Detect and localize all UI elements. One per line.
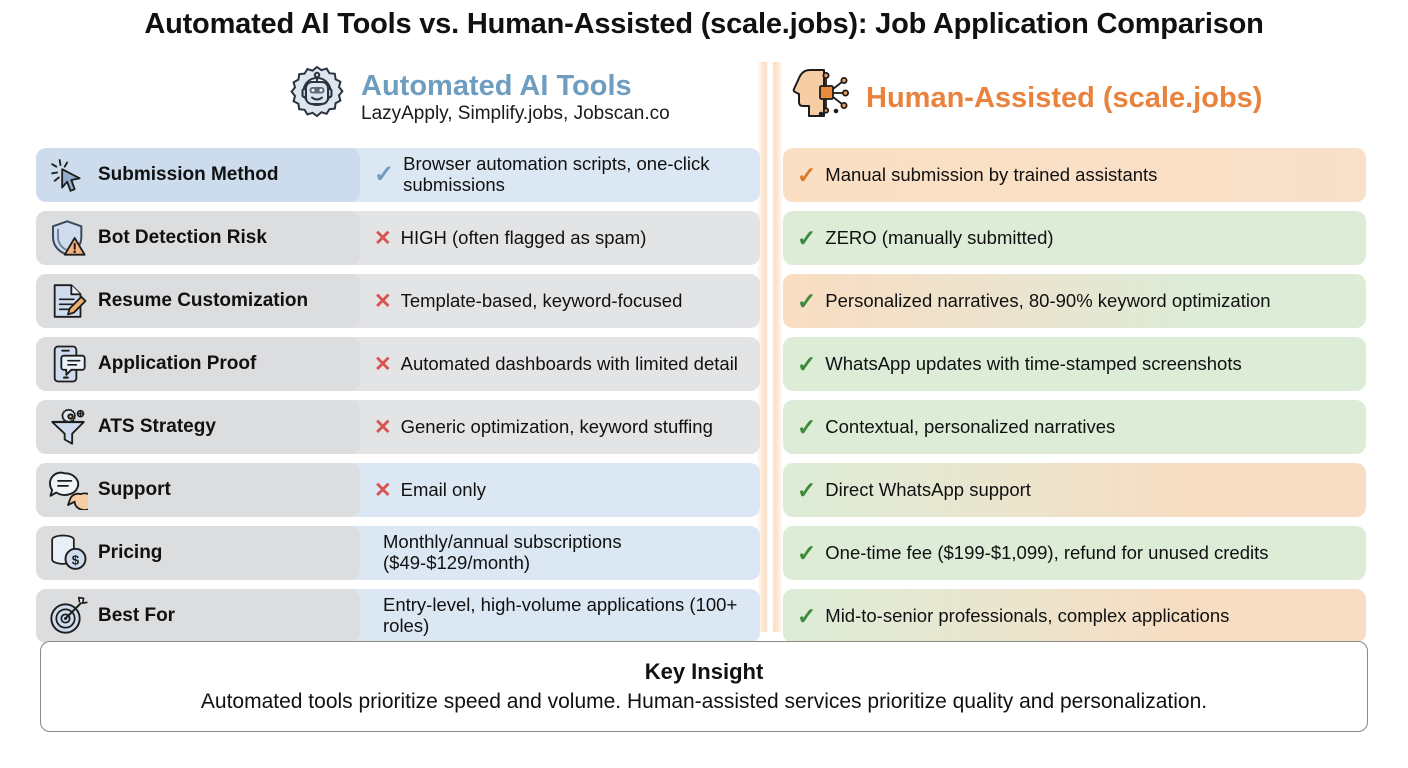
right-value-text: Mid-to-senior professionals, complex app… [825,606,1229,627]
key-insight-body: Automated tools prioritize speed and vol… [201,690,1207,714]
left-column-cell: Resume Customization ✕ Template-based, k… [36,274,760,328]
right-value-text: ZERO (manually submitted) [825,228,1053,249]
row-label-cell: Submission Method [36,148,360,202]
right-column-cell: ✓ Manual submission by trained assistant… [783,148,1366,202]
table-row: ATS Strategy ✕ Generic optimization, key… [0,400,1408,454]
right-value-text: Manual submission by trained assistants [825,165,1157,186]
right-column-cell: ✓ One-time fee ($199-$1,099), refund for… [783,526,1366,580]
left-column-cell: Bot Detection Risk ✕ HIGH (often flagged… [36,211,760,265]
left-value-text: Entry-level, high-volume applications (1… [383,595,760,636]
svg-text:$: $ [72,553,80,568]
table-row: Application Proof ✕ Automated dashboards… [0,337,1408,391]
phone-chat-icon [48,344,88,384]
column-right-title: Human-Assisted (scale.jobs) [866,83,1262,114]
table-row: $ Pricing Monthly/annual subscriptions (… [0,526,1408,580]
row-label: Resume Customization [98,291,308,312]
left-value-text: Monthly/annual subscriptions ($49-$129/m… [383,532,760,573]
column-left-title: Automated AI Tools [361,71,670,102]
table-row: Resume Customization ✕ Template-based, k… [0,274,1408,328]
left-value-cell: ✕ Email only [366,463,760,517]
right-mark-check-icon: ✓ [797,353,816,376]
left-value-text: Automated dashboards with limited detail [401,354,738,375]
right-mark-check-icon: ✓ [797,164,816,187]
table-row: Submission Method ✓ Browser automation s… [0,148,1408,202]
left-value-cell: Entry-level, high-volume applications (1… [366,589,760,643]
funnel-gear-icon [48,407,88,447]
left-column-cell: Submission Method ✓ Browser automation s… [36,148,760,202]
right-mark-check-icon: ✓ [797,227,816,250]
row-label: Support [98,480,171,501]
chat-bubbles-icon [48,470,88,510]
row-label-cell: $ Pricing [36,526,360,580]
right-value-text: WhatsApp updates with time-stamped scree… [825,354,1241,375]
left-column-cell: Best For Entry-level, high-volume applic… [36,589,760,643]
left-value-cell: ✕ Template-based, keyword-focused [366,274,760,328]
row-label: Submission Method [98,165,279,186]
right-value-text: Direct WhatsApp support [825,480,1031,501]
left-mark-cross-icon: ✕ [374,291,392,312]
right-mark-check-icon: ✓ [797,605,816,628]
right-mark-check-icon: ✓ [797,479,816,502]
table-row: Best For Entry-level, high-volume applic… [0,589,1408,643]
human-head-circuit-icon [790,64,854,133]
row-label: ATS Strategy [98,417,216,438]
row-label-cell: Support [36,463,360,517]
column-header-left: Automated AI Tools LazyApply, Simplify.j… [285,62,765,134]
row-label: Application Proof [98,354,256,375]
robot-gear-icon [285,64,349,133]
left-value-text: Generic optimization, keyword stuffing [401,417,713,438]
right-column-cell: ✓ Direct WhatsApp support [783,463,1366,517]
left-column-cell: Support ✕ Email only [36,463,760,517]
right-mark-check-icon: ✓ [797,290,816,313]
left-mark-cross-icon: ✕ [374,417,392,438]
row-label: Best For [98,606,175,627]
left-value-cell: ✓ Browser automation scripts, one-click … [366,148,760,202]
row-label-cell: Best For [36,589,360,643]
column-header-right: Human-Assisted (scale.jobs) [790,62,1370,134]
left-value-text: Browser automation scripts, one-click su… [403,154,760,195]
shield-warning-icon [48,218,88,258]
table-row: Support ✕ Email only ✓ Direct WhatsApp s… [0,463,1408,517]
right-column-cell: ✓ Mid-to-senior professionals, complex a… [783,589,1366,643]
key-insight-title: Key Insight [645,659,764,685]
row-label-cell: ATS Strategy [36,400,360,454]
comparison-table: Submission Method ✓ Browser automation s… [0,148,1408,652]
target-dart-icon [48,596,88,636]
left-value-text: Template-based, keyword-focused [401,291,683,312]
right-mark-check-icon: ✓ [797,542,816,565]
left-mark-cross-icon: ✕ [374,354,392,375]
document-edit-icon [48,281,88,321]
right-column-cell: ✓ ZERO (manually submitted) [783,211,1366,265]
cursor-click-icon [48,155,88,195]
infographic-page: Automated AI Tools vs. Human-Assisted (s… [0,0,1408,768]
left-column-cell: $ Pricing Monthly/annual subscriptions (… [36,526,760,580]
row-label-cell: Bot Detection Risk [36,211,360,265]
column-left-subtitle: LazyApply, Simplify.jobs, Jobscan.co [361,103,670,125]
right-column-cell: ✓ WhatsApp updates with time-stamped scr… [783,337,1366,391]
left-value-cell: ✕ HIGH (often flagged as spam) [366,211,760,265]
left-mark-cross-icon: ✕ [374,480,392,501]
page-title: Automated AI Tools vs. Human-Assisted (s… [0,8,1408,41]
row-label: Bot Detection Risk [98,228,267,249]
right-mark-check-icon: ✓ [797,416,816,439]
right-column-cell: ✓ Contextual, personalized narratives [783,400,1366,454]
right-column-cell: ✓ Personalized narratives, 80-90% keywor… [783,274,1366,328]
key-insight-box: Key Insight Automated tools prioritize s… [40,641,1368,732]
table-row: Bot Detection Risk ✕ HIGH (often flagged… [0,211,1408,265]
left-column-cell: Application Proof ✕ Automated dashboards… [36,337,760,391]
right-value-text: Contextual, personalized narratives [825,417,1115,438]
coins-dollar-icon: $ [48,533,88,573]
left-mark-check-icon: ✓ [374,163,394,187]
right-value-text: One-time fee ($199-$1,099), refund for u… [825,543,1268,564]
left-mark-cross-icon: ✕ [374,228,392,249]
left-column-cell: ATS Strategy ✕ Generic optimization, key… [36,400,760,454]
left-value-cell: Monthly/annual subscriptions ($49-$129/m… [366,526,760,580]
row-label-cell: Application Proof [36,337,360,391]
left-value-cell: ✕ Automated dashboards with limited deta… [366,337,760,391]
right-value-text: Personalized narratives, 80-90% keyword … [825,291,1270,312]
left-value-text: Email only [401,480,486,501]
left-value-text: HIGH (often flagged as spam) [401,228,647,249]
left-value-cell: ✕ Generic optimization, keyword stuffing [366,400,760,454]
row-label-cell: Resume Customization [36,274,360,328]
row-label: Pricing [98,543,162,564]
